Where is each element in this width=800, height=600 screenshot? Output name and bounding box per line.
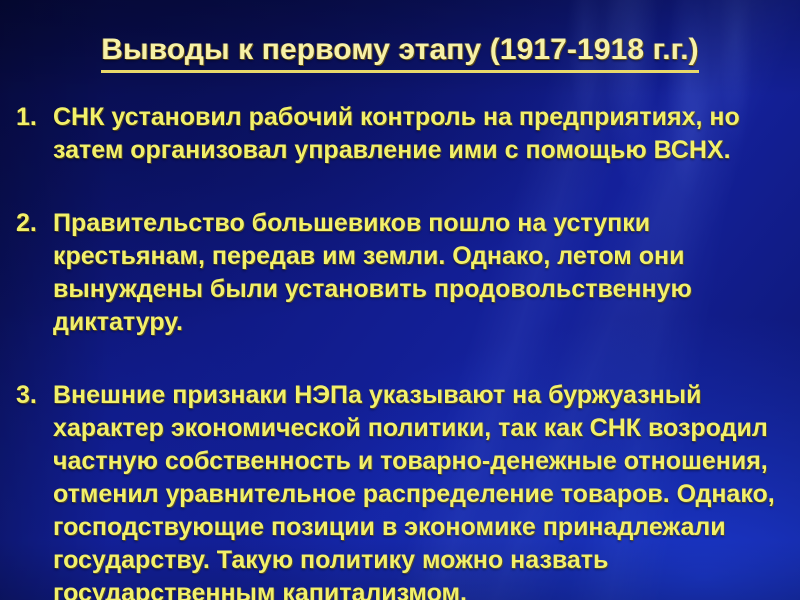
list-item-marker: 3. (16, 379, 53, 412)
list-item-text: Внешние признаки НЭПа указывают на буржу… (53, 379, 784, 600)
list-item-text: СНК установил рабочий контроль на предпр… (53, 101, 784, 167)
slide-title: Выводы к первому этапу (1917-1918 г.г.) (101, 34, 699, 73)
list-item-marker: 1. (16, 101, 53, 134)
list-item: 3. Внешние признаки НЭПа указывают на бу… (16, 379, 784, 600)
list-item-marker: 2. (16, 207, 53, 240)
conclusions-list: 1. СНК установил рабочий контроль на пре… (16, 101, 784, 600)
presentation-slide: Выводы к первому этапу (1917-1918 г.г.) … (0, 0, 800, 600)
list-item: 2. Правительство большевиков пошло на ус… (16, 207, 784, 339)
list-item-text: Правительство большевиков пошло на уступ… (53, 207, 784, 339)
slide-title-container: Выводы к первому этапу (1917-1918 г.г.) (0, 34, 800, 73)
list-item: 1. СНК установил рабочий контроль на пре… (16, 101, 784, 167)
